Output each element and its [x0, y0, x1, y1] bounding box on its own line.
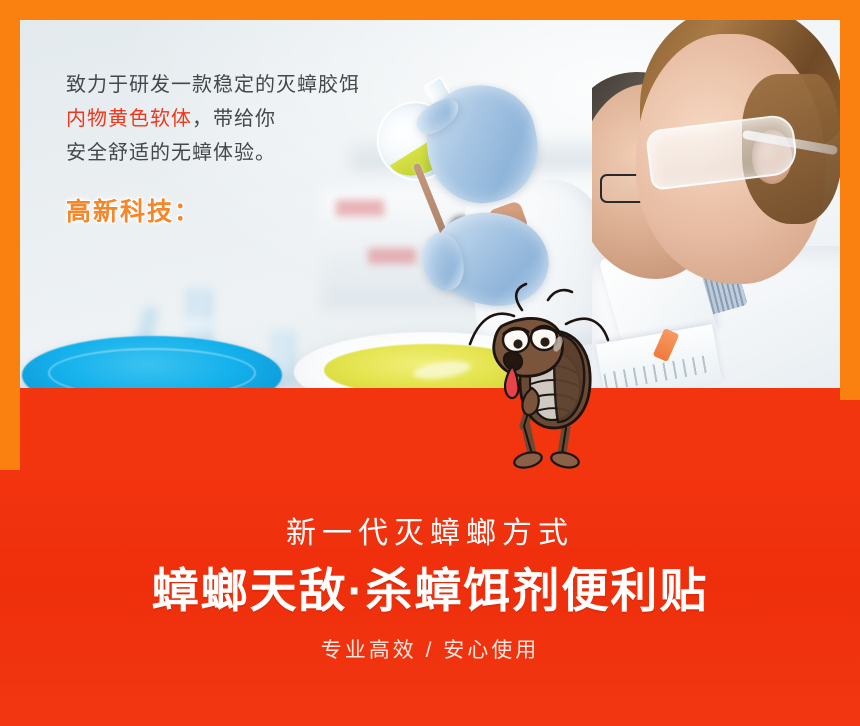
- copy-line-2-tail: ，带给你: [192, 108, 276, 130]
- frame-top-border: [0, 0, 860, 20]
- copy-line-1: 致力于研发一款稳定的灭蟑胶饵: [66, 68, 466, 102]
- frame-right-border: [840, 0, 860, 400]
- footer-subline: 专业高效 / 安心使用: [0, 634, 860, 664]
- copy-line-2-accent: 内物黄色软体: [66, 108, 192, 130]
- tech-label: 高新科技：: [66, 192, 466, 228]
- copy-line-2: 内物黄色软体，带给你: [66, 102, 466, 136]
- footer-headline-section: 新一代灭蟑螂方式 蟑螂天敌·杀蟑饵剂便利贴 专业高效 / 安心使用: [0, 470, 860, 726]
- footer-headline-small: 新一代灭蟑螂方式: [0, 517, 860, 550]
- lab-photo: 致力于研发一款稳定的灭蟑胶饵 内物黄色软体，带给你 安全舒适的无蟑体验。 高新科…: [20, 20, 840, 388]
- cartoon-cockroach-mascot: [462, 282, 642, 482]
- frame-left-border: [0, 0, 20, 470]
- blue-plate: [22, 336, 282, 388]
- copy-line-3: 安全舒适的无蟑体验。: [66, 136, 466, 170]
- product-promo-banner: 致力于研发一款稳定的灭蟑胶饵 内物黄色软体，带给你 安全舒适的无蟑体验。 高新科…: [0, 0, 860, 726]
- footer-headline-big: 蟑螂天敌·杀蟑饵剂便利贴: [0, 564, 860, 618]
- marketing-copy: 致力于研发一款稳定的灭蟑胶饵 内物黄色软体，带给你 安全舒适的无蟑体验。 高新科…: [66, 68, 466, 228]
